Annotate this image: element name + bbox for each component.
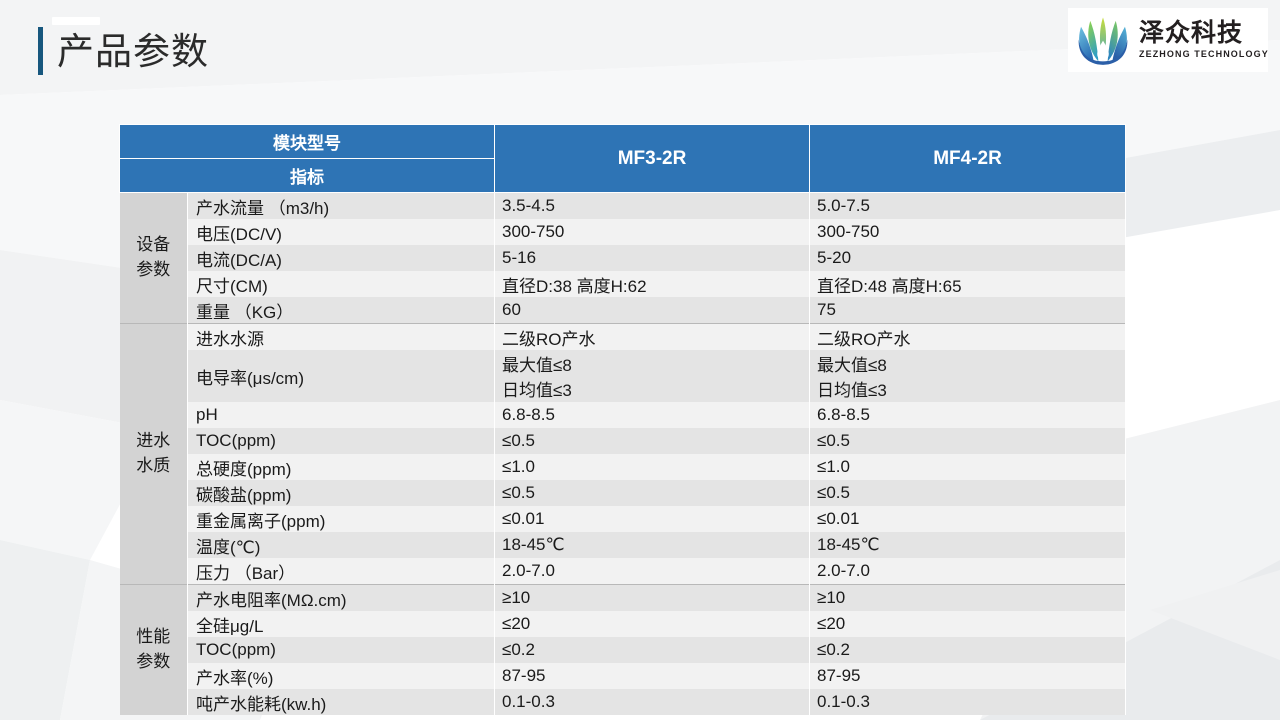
value-cell-2: 5.0-7.5: [810, 193, 1126, 220]
table-row: 吨产水能耗(kw.h)0.1-0.30.1-0.3: [120, 689, 1126, 715]
value-line: 日均值≤3: [817, 376, 1125, 401]
logo-name-en: ZEZHONG TECHNOLOGY: [1139, 50, 1269, 59]
table-row: 电压(DC/V)300-750300-750: [120, 219, 1126, 245]
metric-name-cell: 进水水源: [188, 324, 495, 351]
metric-name-cell: 总硬度(ppm): [188, 454, 495, 480]
value-cell-2: ≤0.5: [810, 428, 1126, 454]
table-header-row-model: 模块型号MF3-2RMF4-2R: [120, 125, 1126, 159]
logo-text-group: 泽众科技 ZEZHONG TECHNOLOGY: [1139, 21, 1269, 59]
metric-name-cell: 吨产水能耗(kw.h): [188, 689, 495, 715]
table-row: 设备参数产水流量 （m3/h)3.5-4.55.0-7.5: [120, 193, 1126, 220]
page-title: 产品参数: [57, 33, 209, 70]
metric-name-cell: 压力 （Bar）: [188, 558, 495, 585]
table-row: 电导率(μs/cm)最大值≤8日均值≤3最大值≤8日均值≤3: [120, 350, 1126, 402]
value-cell-1: 87-95: [495, 663, 810, 689]
logo-name-cn: 泽众科技: [1139, 21, 1269, 46]
category-line: 设备: [120, 233, 188, 258]
column-header-2: MF4-2R: [810, 125, 1126, 193]
slide-header: 产品参数: [0, 0, 1280, 110]
table-row: 压力 （Bar）2.0-7.02.0-7.0: [120, 558, 1126, 585]
table-row: 进水水质进水水源二级RO产水二级RO产水: [120, 324, 1126, 351]
value-cell-2: ≤0.2: [810, 637, 1126, 663]
table-row: pH6.8-8.56.8-8.5: [120, 402, 1126, 428]
value-cell-2: 直径D:48 高度H:65: [810, 271, 1126, 297]
value-cell-2: 75: [810, 297, 1126, 324]
title-tab-decoration: [52, 17, 100, 25]
table-row: 重金属离子(ppm)≤0.01≤0.01: [120, 506, 1126, 532]
value-cell-2: 6.8-8.5: [810, 402, 1126, 428]
metric-name-cell: pH: [188, 402, 495, 428]
value-cell-1: ≤0.5: [495, 428, 810, 454]
value-cell-2: 最大值≤8日均值≤3: [810, 350, 1126, 402]
value-line: 最大值≤8: [817, 351, 1125, 376]
metric-name-cell: TOC(ppm): [188, 428, 495, 454]
metric-name-cell: 尺寸(CM): [188, 271, 495, 297]
value-cell-1: 6.8-8.5: [495, 402, 810, 428]
metric-name-cell: 重量 （KG）: [188, 297, 495, 324]
table-row: 性能参数产水电阻率(MΩ.cm)≥10≥10: [120, 585, 1126, 612]
metric-name-cell: 全硅μg/L: [188, 611, 495, 637]
value-cell-1: ≤20: [495, 611, 810, 637]
category-line: 水质: [120, 454, 188, 479]
category-cell-1: 设备参数: [120, 193, 188, 324]
company-logo: 泽众科技 ZEZHONG TECHNOLOGY: [1068, 8, 1268, 72]
metric-name-cell: 产水电阻率(MΩ.cm): [188, 585, 495, 612]
value-cell-1: 最大值≤8日均值≤3: [495, 350, 810, 402]
value-cell-1: ≤1.0: [495, 454, 810, 480]
table-row: TOC(ppm)≤0.5≤0.5: [120, 428, 1126, 454]
value-cell-1: ≥10: [495, 585, 810, 612]
product-spec-table: 模块型号MF3-2RMF4-2R指标设备参数产水流量 （m3/h)3.5-4.5…: [119, 124, 1126, 715]
value-cell-1: 60: [495, 297, 810, 324]
value-cell-1: 3.5-4.5: [495, 193, 810, 220]
value-cell-1: 二级RO产水: [495, 324, 810, 351]
value-cell-1: 0.1-0.3: [495, 689, 810, 715]
value-cell-1: ≤0.5: [495, 480, 810, 506]
metric-name-cell: 碳酸盐(ppm): [188, 480, 495, 506]
metric-name-cell: 电压(DC/V): [188, 219, 495, 245]
table-row: 重量 （KG）6075: [120, 297, 1126, 324]
category-line: 进水: [120, 429, 188, 454]
category-cell-2: 进水水质: [120, 324, 188, 585]
header-metric-label: 指标: [120, 159, 495, 193]
value-cell-1: 2.0-7.0: [495, 558, 810, 585]
column-header-1: MF3-2R: [495, 125, 810, 193]
metric-name-cell: 温度(℃): [188, 532, 495, 558]
table-row: 总硬度(ppm)≤1.0≤1.0: [120, 454, 1126, 480]
header-model-label: 模块型号: [120, 125, 495, 159]
value-line: 最大值≤8: [502, 351, 809, 376]
metric-name-cell: 电导率(μs/cm): [188, 350, 495, 402]
lotus-waterdrop-icon: [1074, 14, 1132, 66]
value-cell-2: 18-45℃: [810, 532, 1126, 558]
value-cell-2: ≤1.0: [810, 454, 1126, 480]
value-cell-1: 5-16: [495, 245, 810, 271]
value-cell-2: ≤0.5: [810, 480, 1126, 506]
value-cell-2: 5-20: [810, 245, 1126, 271]
category-line: 参数: [120, 258, 188, 283]
value-cell-2: 0.1-0.3: [810, 689, 1126, 715]
value-cell-2: 二级RO产水: [810, 324, 1126, 351]
table-row: 全硅μg/L≤20≤20: [120, 611, 1126, 637]
metric-name-cell: TOC(ppm): [188, 637, 495, 663]
table-row: 产水率(%)87-9587-95: [120, 663, 1126, 689]
value-cell-1: ≤0.2: [495, 637, 810, 663]
value-cell-2: ≥10: [810, 585, 1126, 612]
value-cell-1: 300-750: [495, 219, 810, 245]
value-cell-1: 直径D:38 高度H:62: [495, 271, 810, 297]
category-cell-3: 性能参数: [120, 585, 188, 716]
value-line: 日均值≤3: [502, 376, 809, 401]
table-row: 温度(℃)18-45℃18-45℃: [120, 532, 1126, 558]
page-title-group: 产品参数: [38, 27, 209, 75]
category-line: 性能: [120, 625, 188, 650]
table-row: 碳酸盐(ppm)≤0.5≤0.5: [120, 480, 1126, 506]
table-row: TOC(ppm)≤0.2≤0.2: [120, 637, 1126, 663]
table-row: 尺寸(CM)直径D:38 高度H:62直径D:48 高度H:65: [120, 271, 1126, 297]
value-cell-2: ≤20: [810, 611, 1126, 637]
title-accent-bar: [38, 27, 43, 75]
value-cell-1: ≤0.01: [495, 506, 810, 532]
category-line: 参数: [120, 650, 188, 675]
value-cell-2: 300-750: [810, 219, 1126, 245]
metric-name-cell: 电流(DC/A): [188, 245, 495, 271]
value-cell-2: ≤0.01: [810, 506, 1126, 532]
metric-name-cell: 重金属离子(ppm): [188, 506, 495, 532]
value-cell-2: 2.0-7.0: [810, 558, 1126, 585]
metric-name-cell: 产水率(%): [188, 663, 495, 689]
metric-name-cell: 产水流量 （m3/h): [188, 193, 495, 220]
value-cell-2: 87-95: [810, 663, 1126, 689]
value-cell-1: 18-45℃: [495, 532, 810, 558]
table-row: 电流(DC/A)5-165-20: [120, 245, 1126, 271]
